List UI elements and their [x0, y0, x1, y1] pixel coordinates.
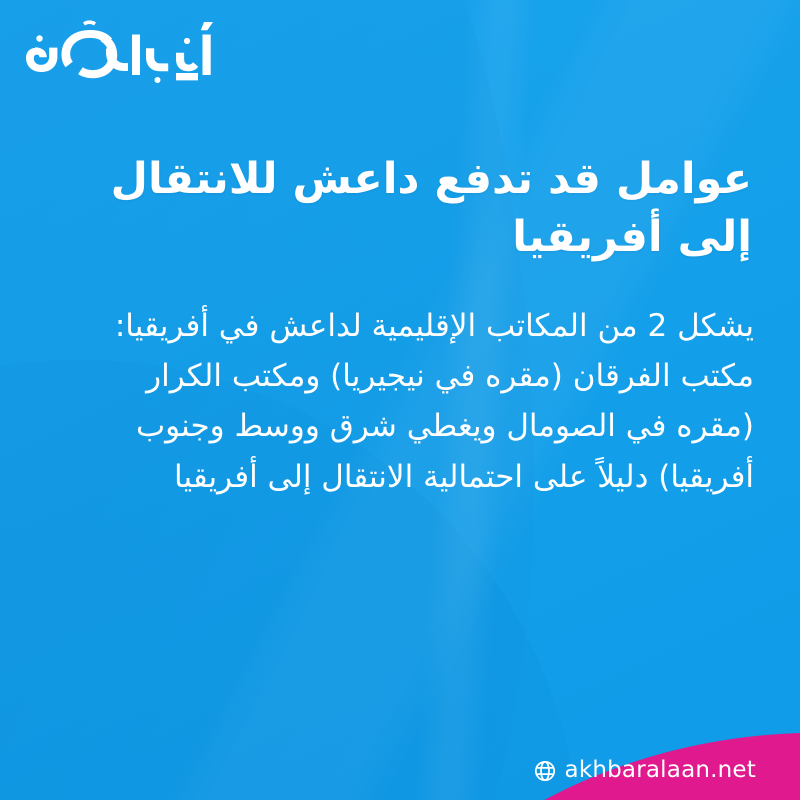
page-title: عوامل قد تدفع داعش للانتقال إلى أفريقيا: [46, 150, 754, 267]
website-link[interactable]: akhbaralaan.net: [534, 759, 756, 782]
social-news-card: عوامل قد تدفع داعش للانتقال إلى أفريقيا …: [0, 0, 800, 800]
akhbar-al-aan-logo[interactable]: [26, 18, 216, 92]
site-url-label: akhbaralaan.net: [565, 759, 756, 782]
globe-icon: [534, 760, 556, 782]
card-content: عوامل قد تدفع داعش للانتقال إلى أفريقيا …: [46, 150, 754, 502]
body-paragraph: يشكل 2 من المكاتب الإقليمية لداعش في أفر…: [46, 301, 754, 502]
